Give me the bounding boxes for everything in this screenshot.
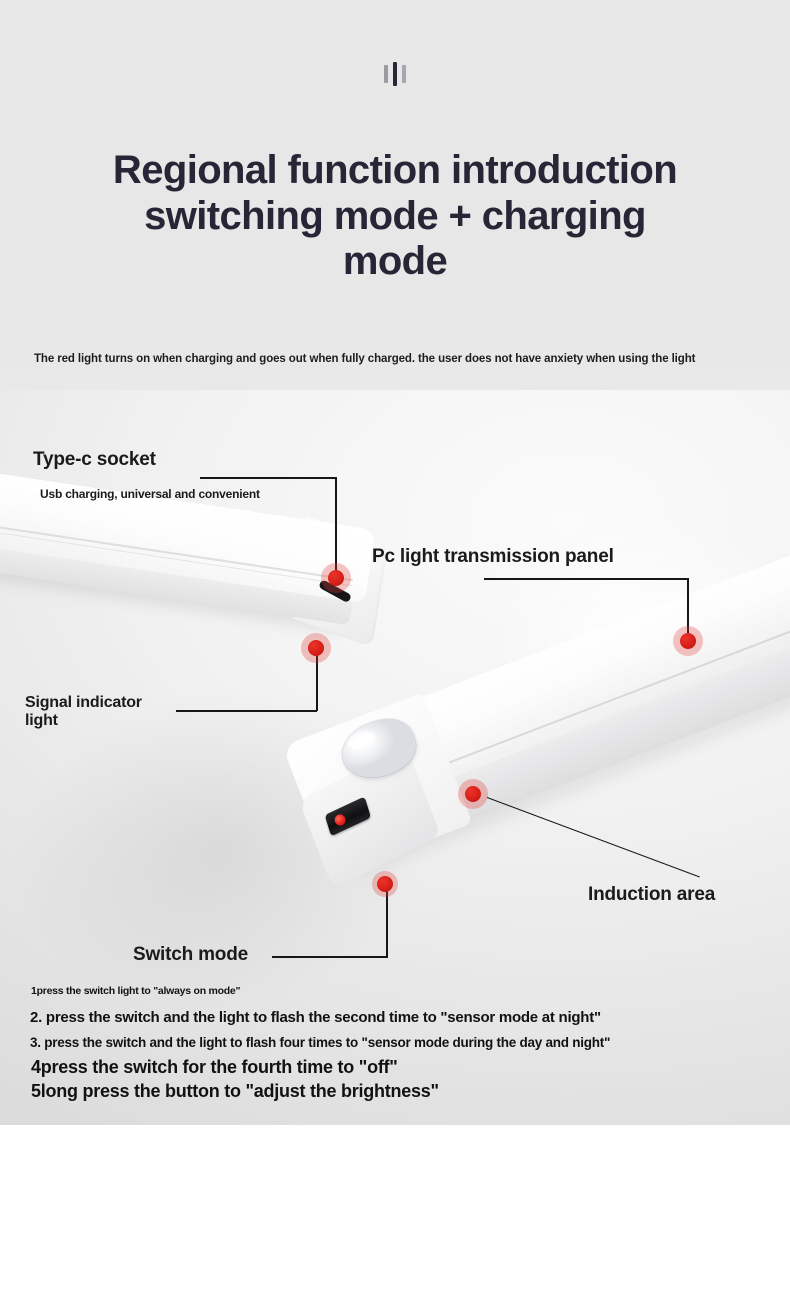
infographic-page: Regional function introduction switching… bbox=[0, 0, 790, 1309]
hotspot-type-c-socket[interactable] bbox=[321, 563, 351, 593]
callout-label-signal-indicator-light: Signal indicator light bbox=[25, 694, 142, 730]
leader-line-signal-horizontal bbox=[176, 710, 317, 712]
callout-label-pc-light-panel: Pc light transmission panel bbox=[372, 546, 614, 567]
led-bar-upper bbox=[0, 441, 376, 648]
leader-line-type-c-vertical bbox=[335, 477, 337, 577]
callout-sublabel-type-c-socket: Usb charging, universal and convenient bbox=[40, 488, 260, 502]
instruction-step-2: 2. press the switch and the light to fla… bbox=[30, 1009, 601, 1026]
header-band: Regional function introduction switching… bbox=[0, 0, 790, 400]
deco-bar-center bbox=[393, 62, 397, 86]
lead-paragraph: The red light turns on when charging and… bbox=[34, 353, 764, 365]
instruction-step-3: 3. press the switch and the light to fla… bbox=[30, 1035, 610, 1050]
callout-label-induction-area: Induction area bbox=[588, 884, 715, 905]
deco-bar-right bbox=[402, 65, 406, 83]
hotspot-pc-light-panel[interactable] bbox=[673, 626, 703, 656]
bottom-white-area bbox=[0, 1125, 790, 1309]
instruction-step-4: 4press the switch for the fourth time to… bbox=[31, 1057, 398, 1078]
hotspot-switch-mode[interactable] bbox=[372, 871, 398, 897]
page-title: Regional function introduction switching… bbox=[40, 148, 750, 285]
leader-line-pc-panel-horizontal bbox=[484, 578, 688, 580]
hotspot-induction-area[interactable] bbox=[458, 779, 488, 809]
instruction-step-1: 1press the switch light to "always on mo… bbox=[31, 985, 240, 997]
leader-line-type-c-horizontal bbox=[200, 477, 337, 479]
callout-label-type-c-socket: Type-c socket bbox=[33, 449, 156, 470]
leader-line-switch-horizontal bbox=[272, 956, 388, 958]
deco-bar-left bbox=[384, 65, 388, 83]
leader-line-switch-vertical bbox=[386, 888, 388, 957]
three-bars-mark-icon bbox=[0, 62, 790, 88]
hotspot-signal-indicator-light[interactable] bbox=[301, 633, 331, 663]
instruction-step-5: 5long press the button to "adjust the br… bbox=[31, 1081, 439, 1102]
callout-label-switch-mode: Switch mode bbox=[133, 944, 248, 965]
